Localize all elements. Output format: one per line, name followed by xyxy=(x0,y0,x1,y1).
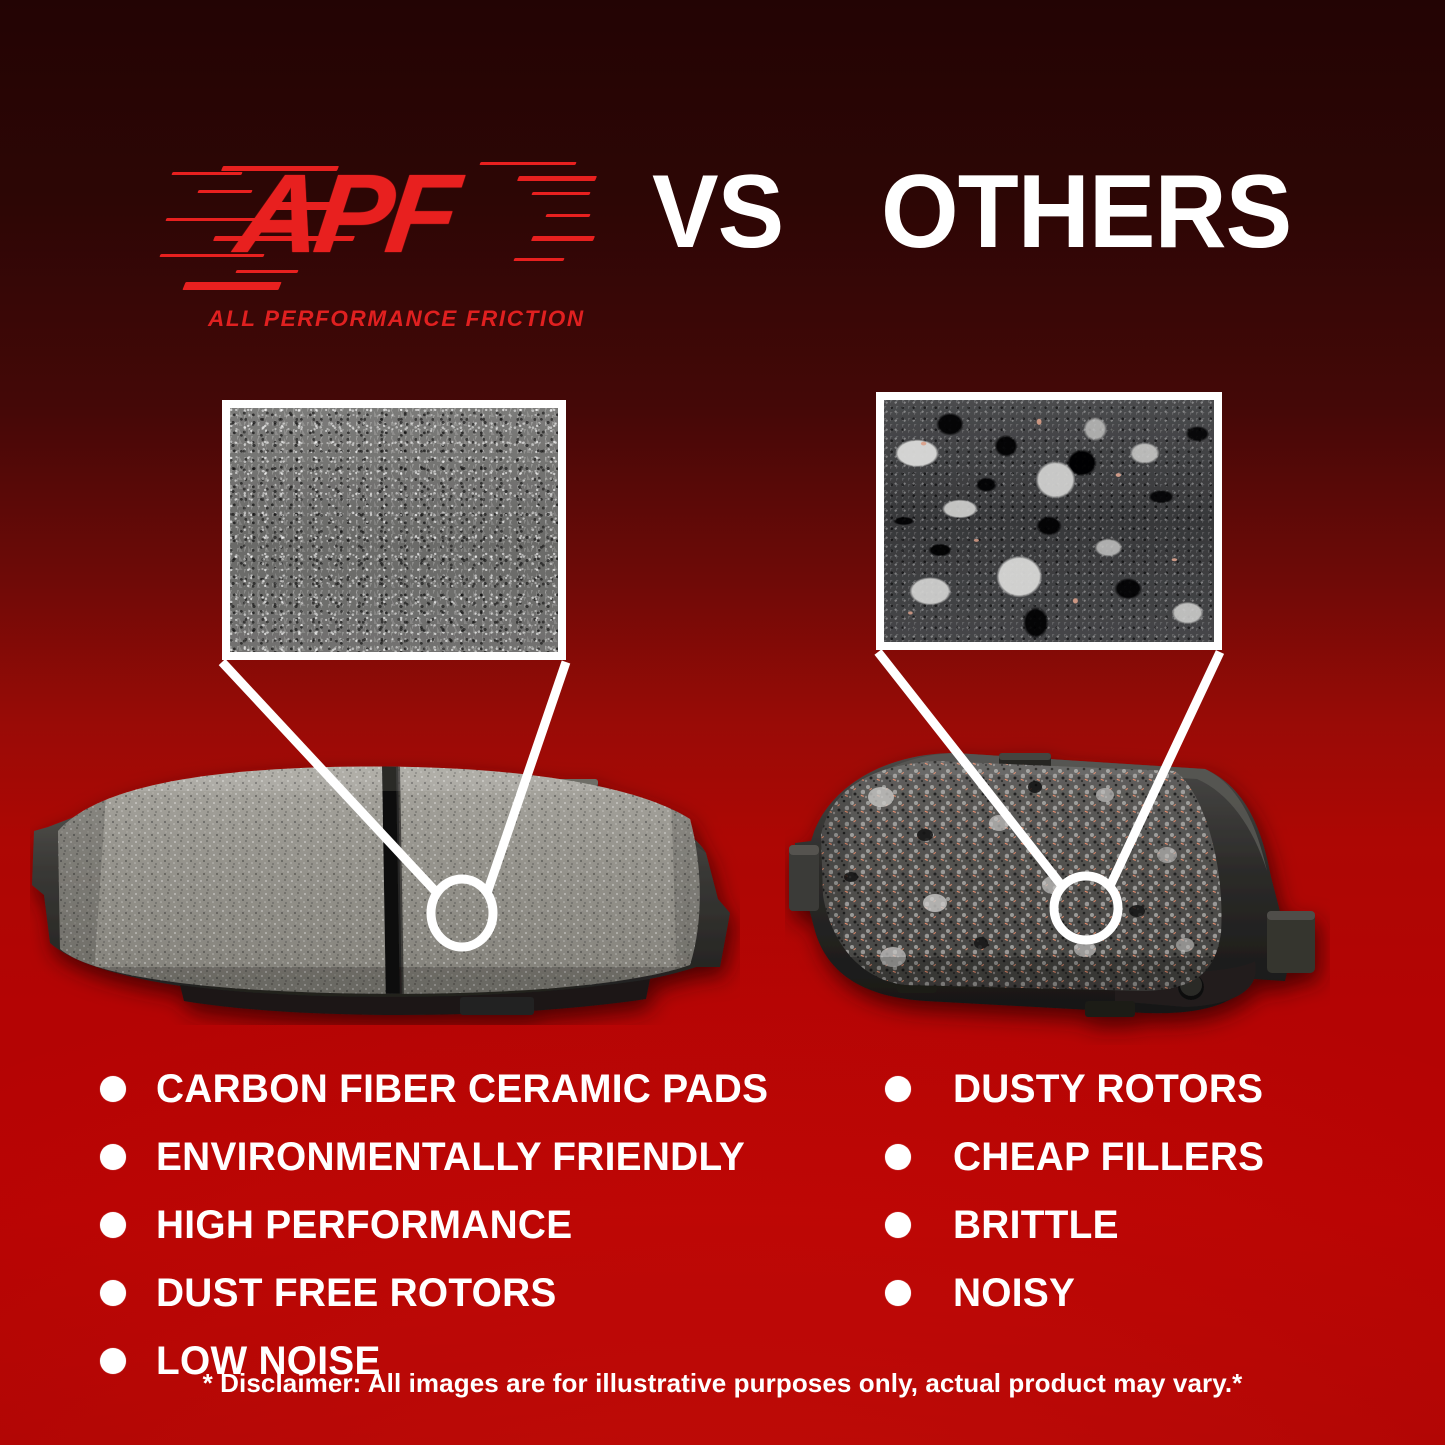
logo-wordmark: APF xyxy=(231,158,459,270)
feature-label: DUST FREE ROTORS xyxy=(156,1271,557,1316)
apf-texture-inset xyxy=(222,400,566,660)
bullet-icon xyxy=(100,1212,126,1238)
others-label: OTHERS xyxy=(881,154,1291,270)
bullet-icon xyxy=(885,1212,911,1238)
list-item: DUST FREE ROTORS xyxy=(100,1259,787,1327)
page-title: VS OTHERS xyxy=(652,160,1291,264)
list-item: ENVIRONMENTALLY FRIENDLY xyxy=(100,1123,787,1191)
competitor-texture-inset xyxy=(876,392,1222,650)
feature-label: NOISY xyxy=(953,1271,1075,1316)
logo-streak-icon xyxy=(171,172,242,175)
feature-label: DUSTY ROTORS xyxy=(953,1067,1263,1112)
bullet-icon xyxy=(100,1280,126,1306)
poster-canvas: APF ALL PERFORMANCE FRICTION VS OTHERS xyxy=(0,0,1445,1445)
logo-streak-icon xyxy=(545,214,590,217)
bullet-icon xyxy=(885,1076,911,1102)
vs-label: VS xyxy=(652,154,783,270)
feature-label: CARBON FIBER CERAMIC PADS xyxy=(156,1067,768,1112)
header: APF ALL PERFORMANCE FRICTION VS OTHERS xyxy=(0,150,1445,345)
logo-streak-icon xyxy=(182,282,281,290)
list-item: CHEAP FILLERS xyxy=(885,1123,1274,1191)
competitor-brake-pad-image xyxy=(785,735,1330,1045)
bullet-icon xyxy=(885,1280,911,1306)
list-item: CARBON FIBER CERAMIC PADS xyxy=(100,1055,787,1123)
feature-label: BRITTLE xyxy=(953,1203,1119,1248)
bullet-icon xyxy=(100,1144,126,1170)
list-item: BRITTLE xyxy=(885,1191,1274,1259)
apf-feature-list: CARBON FIBER CERAMIC PADS ENVIRONMENTALL… xyxy=(100,1055,787,1395)
feature-label: ENVIRONMENTALLY FRIENDLY xyxy=(156,1135,745,1180)
fine-grain-texture-swatch xyxy=(230,408,558,652)
bullet-icon xyxy=(885,1144,911,1170)
feature-label: CHEAP FILLERS xyxy=(953,1135,1264,1180)
list-item: DUSTY ROTORS xyxy=(885,1055,1274,1123)
logo-streak-icon xyxy=(531,236,595,241)
logo-streak-icon xyxy=(513,258,564,261)
logo-tagline: ALL PERFORMANCE FRICTION xyxy=(208,306,585,332)
list-item: HIGH PERFORMANCE xyxy=(100,1191,787,1259)
feature-label: HIGH PERFORMANCE xyxy=(156,1203,572,1248)
logo-streak-icon xyxy=(517,176,597,181)
logo-streak-icon xyxy=(479,162,576,165)
logo-streak-icon xyxy=(531,192,590,195)
apf-brake-pad-image xyxy=(30,735,740,1025)
list-item: NOISY xyxy=(885,1259,1274,1327)
disclaimer-text: * Disclaimer: All images are for illustr… xyxy=(0,1368,1445,1399)
bullet-icon xyxy=(100,1076,126,1102)
coarse-filler-texture-swatch xyxy=(884,400,1214,642)
apf-logo: APF ALL PERFORMANCE FRICTION xyxy=(180,158,600,338)
competitor-feature-list: DUSTY ROTORS CHEAP FILLERS BRITTLE NOISY xyxy=(885,1055,1274,1327)
